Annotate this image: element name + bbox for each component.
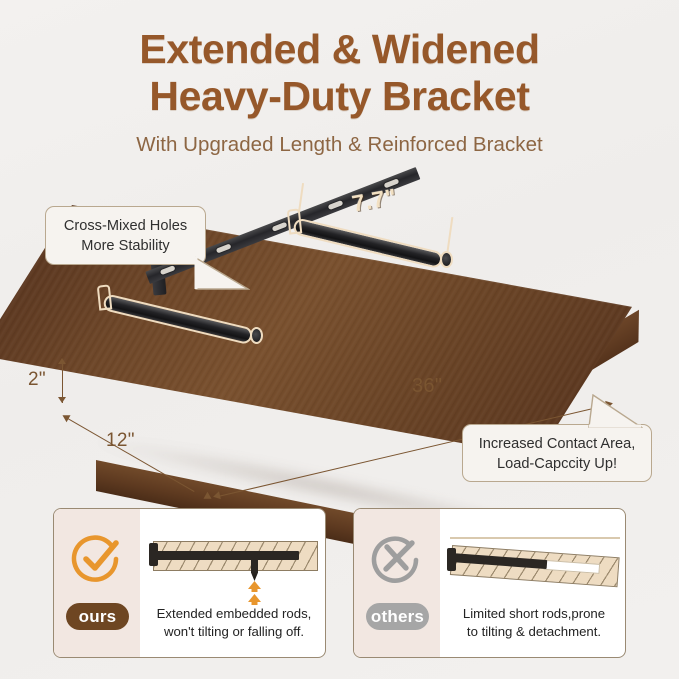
badge-others: others [366,603,429,630]
callout-cross-mixed-holes: Cross-Mixed Holes More Stability [45,206,206,265]
callout-line-2: Load-Capccity Up! [476,454,638,474]
level-reference-line [450,537,620,539]
badge-ours-label: ours [79,607,117,627]
thickness-label: 2" [28,369,46,391]
badge-others-label: others [371,607,424,627]
caption-ours-line-1: Extended embedded rods, [144,605,324,623]
bracket-slot [216,243,232,253]
rod-head-others [447,548,456,571]
bracket-slot [328,200,344,210]
screw-icon [251,559,258,581]
caption-ours: Extended embedded rods, won't tilting or… [144,605,324,641]
caption-others-line-2: to tilting & detachment. [444,623,624,641]
callout-line-1: Cross-Mixed Holes [59,216,192,236]
heading-line-2: Heavy-Duty Bracket [0,73,679,120]
callout-line-1: Increased Contact Area, [476,434,638,454]
caption-others: Limited short rods,prone to tilting & de… [444,605,624,641]
rod-end-cap [440,251,453,268]
length-label: 36" [412,375,442,398]
rod-end-cap [250,327,263,344]
wood-cross-section-others [450,545,620,587]
caption-ours-line-2: won't tilting or falling off. [144,623,324,641]
caption-others-line-1: Limited short rods,prone [444,605,624,623]
callout-tail-icon [194,256,250,290]
infographic-canvas: Extended & Widened Heavy-Duty Bracket Wi… [0,0,679,679]
rod-mount-left [97,284,113,310]
bracket-slot [272,222,288,232]
heading-line-1: Extended & Widened [0,26,679,73]
comparison-panel-others: others Limited short rods,prone to tilti… [353,508,626,658]
check-circle-icon [71,533,123,585]
x-circle-icon [371,533,423,585]
badge-ours: ours [66,603,129,630]
bracket-slot [160,265,176,275]
comparison-section: ours Extended embedded rods, won't tilti… [0,500,679,679]
callout-tail-icon [587,394,643,428]
thickness-arrow-up [58,358,66,364]
bracket-arm-tick-left [298,183,304,213]
thickness-arrow-down [58,397,66,403]
comparison-panel-ours: ours Extended embedded rods, won't tilti… [53,508,326,658]
callout-increased-contact-area: Increased Contact Area, Load-Capccity Up… [462,424,652,482]
header-block: Extended & Widened Heavy-Duty Bracket Wi… [0,26,679,157]
subtitle: With Upgraded Length & Reinforced Bracke… [0,133,679,157]
embedded-rod-ours [155,551,299,560]
callout-line-2: More Stability [59,236,192,256]
depth-label: 12" [106,430,135,452]
up-arrow-icon [247,581,262,606]
bracket-arm-tick-right [447,217,454,251]
